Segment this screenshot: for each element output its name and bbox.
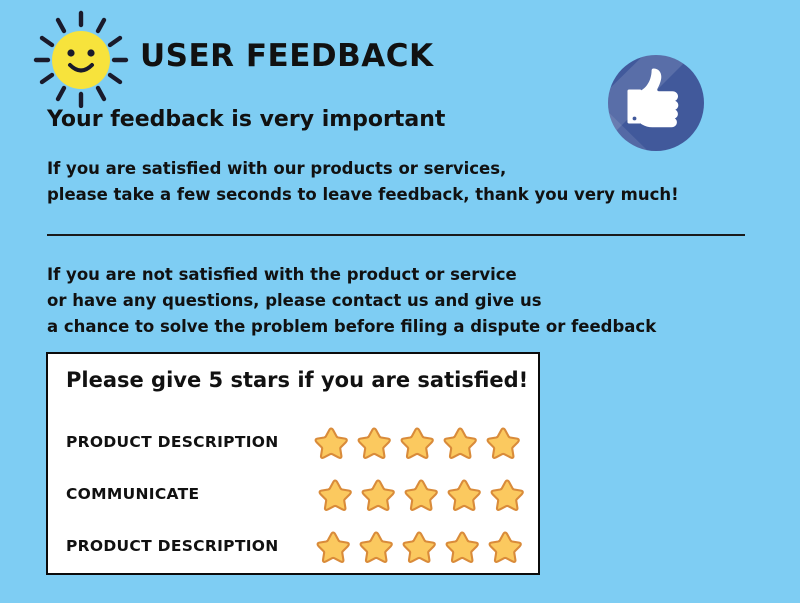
rating-row: PRODUCT DESCRIPTION: [48, 416, 538, 468]
star-icon[interactable]: [490, 478, 524, 511]
subheading: Your feedback is very important: [47, 107, 445, 132]
star-icon[interactable]: [314, 426, 348, 459]
negative-paragraph: If you are not satisfied with the produc…: [47, 262, 656, 340]
positive-line-1: If you are satisfied with our products o…: [47, 156, 679, 182]
star-rating[interactable]: [318, 478, 524, 511]
sun-icon: [28, 8, 136, 108]
rating-rows: PRODUCT DESCRIPTION COMMUNICATE: [48, 416, 538, 572]
section-divider: [47, 234, 745, 236]
star-icon[interactable]: [443, 426, 477, 459]
star-icon[interactable]: [445, 530, 479, 563]
rating-row: PRODUCT DESCRIPTION: [48, 520, 538, 572]
rating-row: COMMUNICATE: [48, 468, 538, 520]
star-rating[interactable]: [314, 426, 520, 459]
thumbs-up-icon: [607, 54, 705, 152]
star-icon[interactable]: [357, 426, 391, 459]
rating-label: PRODUCT DESCRIPTION: [66, 537, 279, 555]
positive-line-2: please take a few seconds to leave feedb…: [47, 182, 679, 208]
star-rating[interactable]: [316, 530, 522, 563]
positive-paragraph: If you are satisfied with our products o…: [47, 156, 679, 208]
negative-line-2: or have any questions, please contact us…: [47, 288, 656, 314]
star-icon[interactable]: [488, 530, 522, 563]
rating-label: PRODUCT DESCRIPTION: [66, 433, 279, 451]
feedback-banner: USER FEEDBACK Your feedback is very impo…: [0, 0, 800, 603]
star-icon[interactable]: [402, 530, 436, 563]
star-icon[interactable]: [404, 478, 438, 511]
page-title: USER FEEDBACK: [140, 38, 434, 74]
star-icon[interactable]: [316, 530, 350, 563]
star-icon[interactable]: [359, 530, 393, 563]
star-icon[interactable]: [486, 426, 520, 459]
rating-card-title: Please give 5 stars if you are satisfied…: [66, 368, 528, 392]
star-icon[interactable]: [318, 478, 352, 511]
rating-label: COMMUNICATE: [66, 485, 199, 503]
negative-line-3: a chance to solve the problem before fil…: [47, 314, 656, 340]
star-icon[interactable]: [361, 478, 395, 511]
star-icon[interactable]: [447, 478, 481, 511]
star-icon[interactable]: [400, 426, 434, 459]
negative-line-1: If you are not satisfied with the produc…: [47, 262, 656, 288]
rating-card: Please give 5 stars if you are satisfied…: [46, 352, 540, 575]
